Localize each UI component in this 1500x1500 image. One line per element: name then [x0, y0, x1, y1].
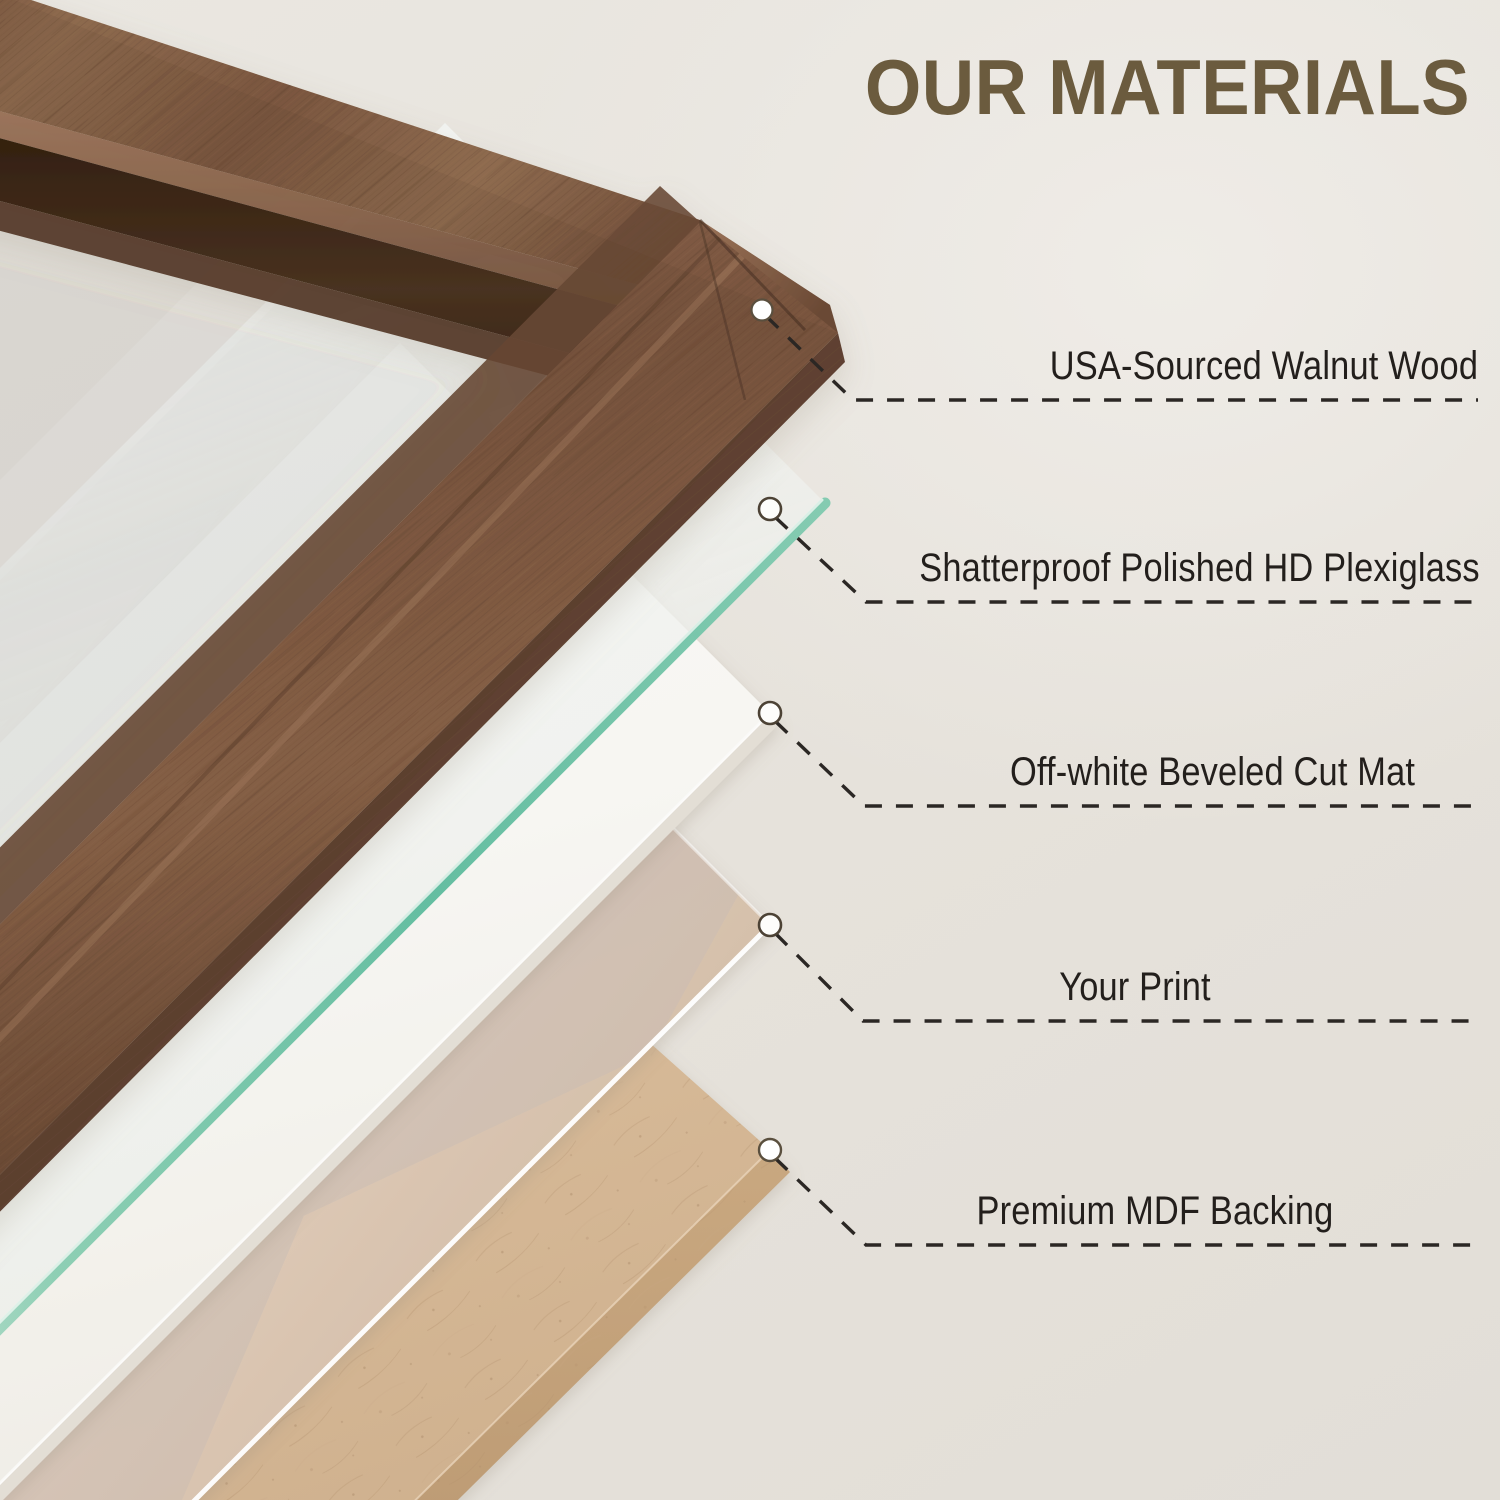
- infographic-canvas: OUR MATERIALS USA-Sourced Walnut Wood Sh…: [0, 0, 1500, 1500]
- callout-label-walnut-wood: USA-Sourced Walnut Wood: [1050, 346, 1478, 386]
- callout-label-hd-plexiglass: Shatterproof Polished HD Plexiglass: [919, 548, 1480, 588]
- callout-label-mdf-backing: Premium MDF Backing: [977, 1191, 1334, 1231]
- page-title: OUR MATERIALS: [103, 48, 1470, 126]
- callout-label-beveled-cut-mat: Off-white Beveled Cut Mat: [1010, 752, 1415, 792]
- callout-label-your-print: Your Print: [1059, 967, 1211, 1007]
